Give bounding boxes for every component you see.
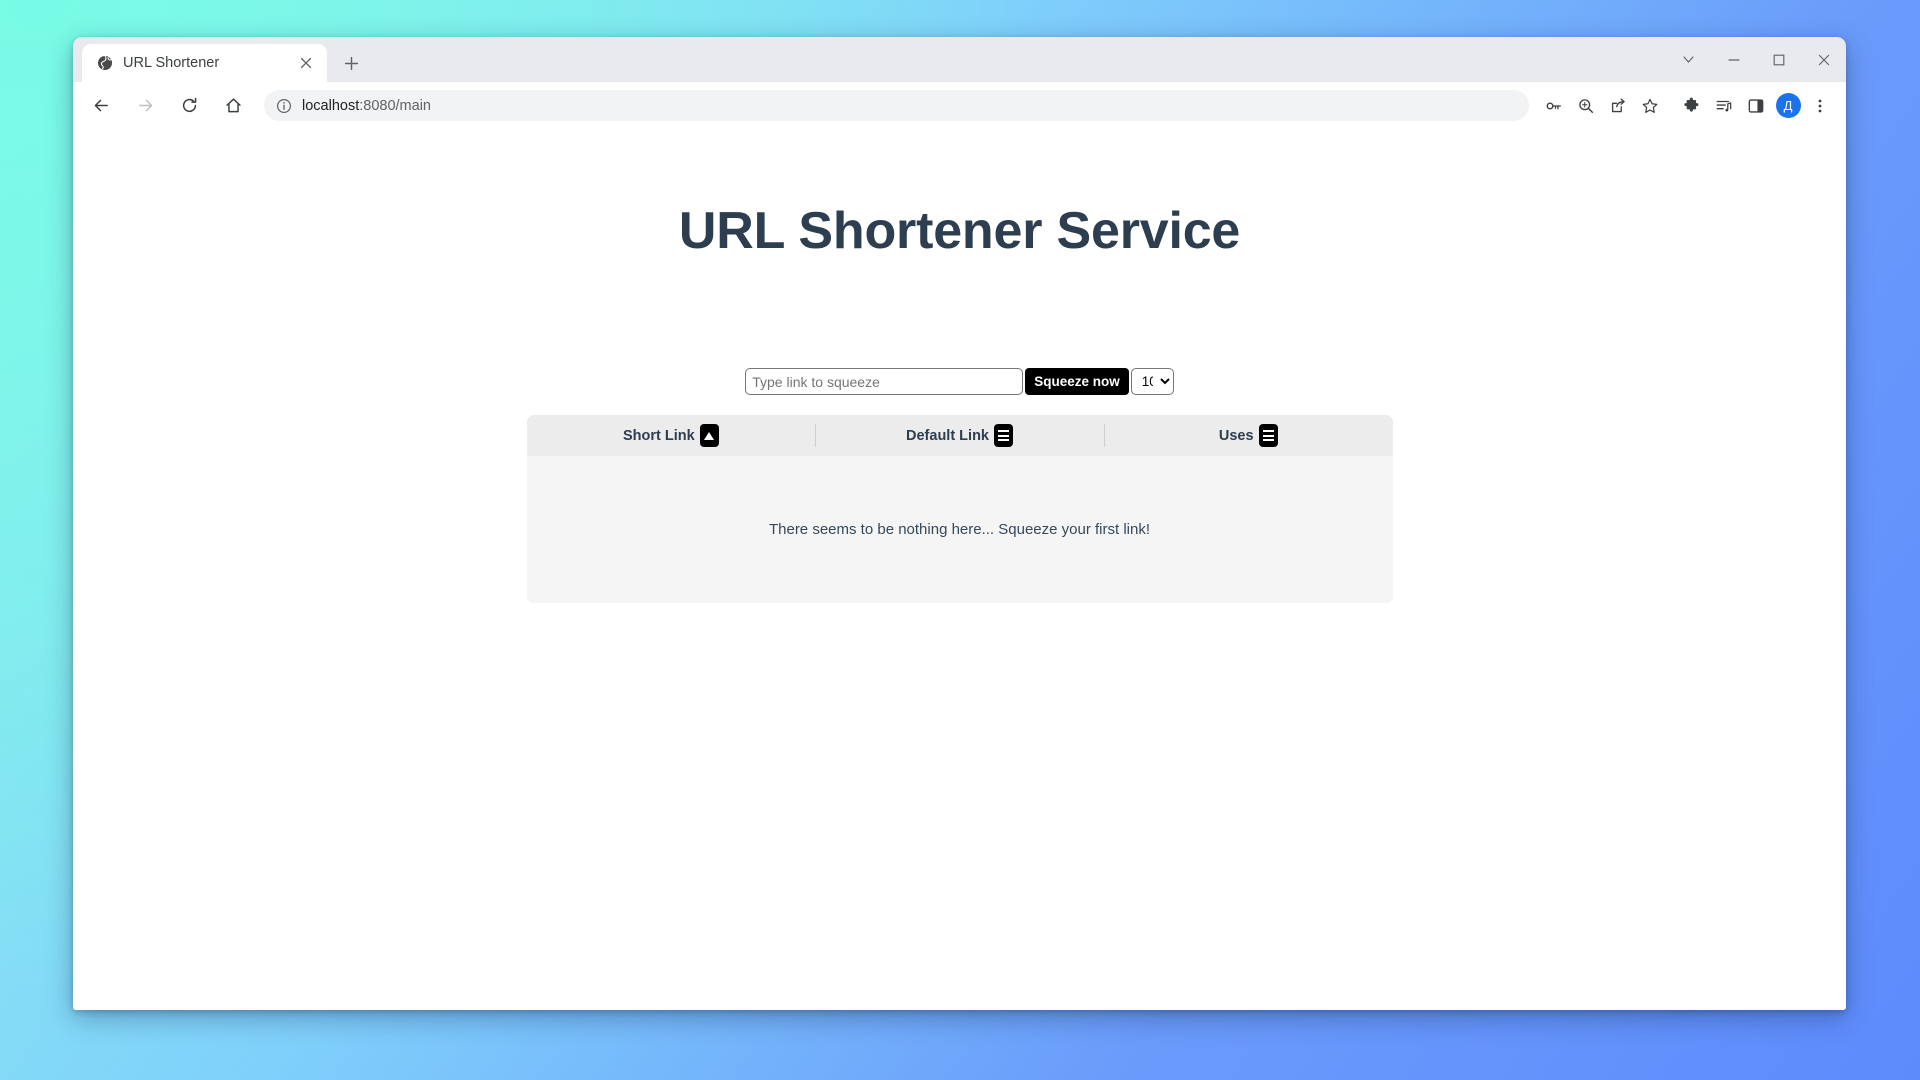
close-window-button[interactable]: [1801, 37, 1846, 82]
tab-strip: URL Shortener: [73, 37, 1846, 82]
table-header-short-link[interactable]: Short Link: [527, 415, 816, 456]
tab-search-button[interactable]: [1666, 37, 1711, 82]
reload-button[interactable]: [172, 89, 206, 123]
avatar[interactable]: Д: [1772, 90, 1804, 122]
chevron-down-icon: [1682, 53, 1695, 66]
home-icon: [224, 96, 243, 115]
url-path: :8080/main: [359, 98, 431, 114]
shorten-form: Squeeze now 102550100: [745, 368, 1174, 395]
side-panel-icon[interactable]: [1740, 90, 1772, 122]
magnifier-icon: [1577, 97, 1595, 115]
minimize-icon: [1727, 53, 1741, 67]
browser-tab[interactable]: URL Shortener: [82, 44, 327, 82]
browser-toolbar: localhost:8080/main: [73, 82, 1846, 129]
close-icon[interactable]: [295, 52, 317, 74]
new-tab-button[interactable]: [336, 48, 366, 78]
squeeze-now-button[interactable]: Squeeze now: [1025, 368, 1129, 395]
arrow-right-icon: [136, 96, 155, 115]
globe-icon: [96, 55, 113, 72]
media-playlist-icon[interactable]: [1708, 90, 1740, 122]
share-arrow-icon: [1609, 97, 1627, 115]
hamburger-icon[interactable]: [994, 424, 1013, 447]
puzzle-icon: [1683, 97, 1701, 115]
maximize-button[interactable]: [1756, 37, 1801, 82]
table-header-uses[interactable]: Uses: [1104, 415, 1393, 456]
column-label: Uses: [1219, 428, 1254, 444]
tab-title: URL Shortener: [123, 55, 285, 71]
column-label: Short Link: [623, 428, 695, 444]
maximize-icon: [1772, 53, 1786, 67]
column-label: Default Link: [906, 428, 989, 444]
browser-menu-button[interactable]: [1804, 90, 1836, 122]
triangle-up-icon[interactable]: [700, 424, 719, 447]
address-bar-url: localhost:8080/main: [302, 98, 431, 114]
browser-window: URL Shortener: [73, 37, 1846, 1010]
three-dots-icon: [1811, 97, 1829, 115]
hamburger-icon[interactable]: [1259, 424, 1278, 447]
minimize-button[interactable]: [1711, 37, 1756, 82]
link-input[interactable]: [745, 368, 1023, 395]
address-bar[interactable]: localhost:8080/main: [264, 90, 1529, 121]
key-icon: [1545, 97, 1563, 115]
panel-icon: [1747, 97, 1765, 115]
table-body: There seems to be nothing here... Squeez…: [527, 456, 1393, 603]
page-viewport: URL Shortener Service Squeeze now 102550…: [73, 129, 1846, 1010]
links-table: Short Link Default Link Uses: [527, 415, 1393, 603]
share-icon[interactable]: [1602, 90, 1634, 122]
window-controls: [1666, 37, 1846, 82]
home-button[interactable]: [216, 89, 250, 123]
table-header-default-link[interactable]: Default Link: [815, 415, 1104, 456]
close-icon: [1817, 53, 1831, 67]
empty-state-message: There seems to be nothing here... Squeez…: [769, 521, 1150, 538]
forward-button[interactable]: [128, 89, 162, 123]
avatar-initial: Д: [1776, 93, 1801, 118]
plus-icon: [344, 56, 359, 71]
password-manager-icon[interactable]: [1538, 90, 1570, 122]
reload-icon: [180, 96, 199, 115]
back-button[interactable]: [84, 89, 118, 123]
arrow-left-icon: [92, 96, 111, 115]
url-host: localhost: [302, 98, 359, 114]
table-header-row: Short Link Default Link Uses: [527, 415, 1393, 456]
page-title: URL Shortener Service: [679, 201, 1240, 261]
page-size-select[interactable]: 102550100: [1131, 368, 1174, 395]
info-circle-icon[interactable]: [276, 98, 292, 114]
music-list-icon: [1715, 97, 1733, 115]
extensions-icon[interactable]: [1676, 90, 1708, 122]
bookmark-icon[interactable]: [1634, 90, 1666, 122]
zoom-icon[interactable]: [1570, 90, 1602, 122]
star-icon: [1641, 97, 1659, 115]
url-shortener-app: URL Shortener Service Squeeze now 102550…: [73, 129, 1846, 603]
